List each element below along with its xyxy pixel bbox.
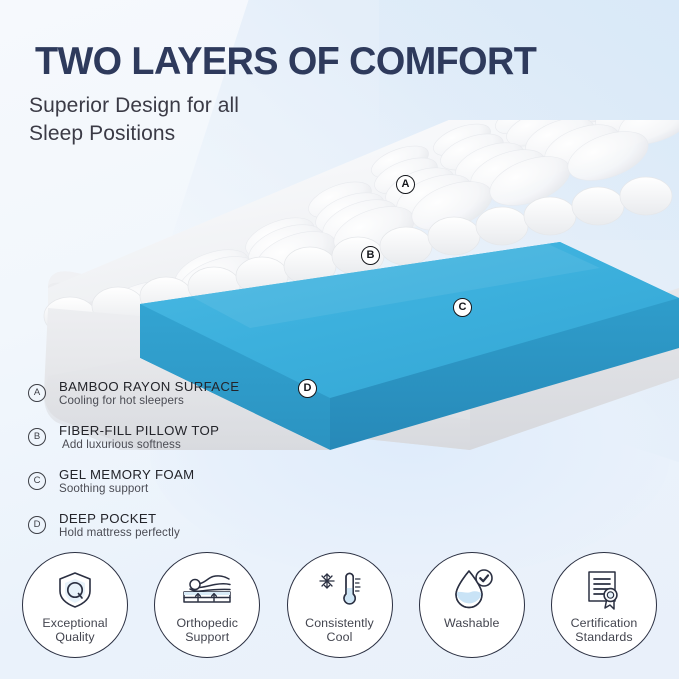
water-droplet-check-icon xyxy=(448,567,496,613)
legend-item-fiber-fill-pillow-top: B FIBER-FILL PILLOW TOP Add luxurious so… xyxy=(28,423,278,467)
legend-title-d: DEEP POCKET xyxy=(59,511,156,526)
shield-q-icon xyxy=(53,567,97,613)
badge-exceptional-quality: Exceptional Quality xyxy=(22,552,128,658)
badge-label-line1: Orthopedic xyxy=(176,616,238,630)
legend-sub-d: Hold mattress perfectly xyxy=(59,526,180,539)
infographic-canvas: TWO LAYERS OF COMFORT Superior Design fo… xyxy=(0,0,679,679)
badge-orthopedic-support: Orthopedic Support xyxy=(154,552,260,658)
badge-label-line1: Exceptional xyxy=(42,616,107,630)
illustration-marker-b: B xyxy=(361,246,380,265)
legend-item-gel-memory-foam: C GEL MEMORY FOAM Soothing support xyxy=(28,467,278,511)
legend-sub-a: Cooling for hot sleepers xyxy=(59,394,184,407)
badge-certification-standards: Certification Standards xyxy=(551,552,657,658)
badge-label-line2: Cool xyxy=(305,630,374,644)
badge-label-exceptional-quality: Exceptional Quality xyxy=(42,616,107,644)
badge-label-line2: Standards xyxy=(571,630,638,644)
legend-badge-d: D xyxy=(28,516,46,534)
badge-label-line2: Support xyxy=(176,630,238,644)
certificate-seal-icon xyxy=(581,567,627,613)
illustration-marker-d: D xyxy=(298,379,317,398)
thermometer-snowflake-icon xyxy=(315,567,365,613)
badge-washable: Washable xyxy=(419,552,525,658)
subtitle-line-1: Superior Design for all xyxy=(29,92,239,120)
badge-label-certification-standards: Certification Standards xyxy=(571,616,638,644)
legend-sub-c: Soothing support xyxy=(59,482,148,495)
legend-item-bamboo-rayon-surface: A BAMBOO RAYON SURFACE Cooling for hot s… xyxy=(28,379,278,423)
badge-label-consistently-cool: Consistently Cool xyxy=(305,616,374,644)
legend-badge-b: B xyxy=(28,428,46,446)
feature-badge-row: Exceptional Quality xyxy=(0,552,679,662)
legend-item-deep-pocket: D DEEP POCKET Hold mattress perfectly xyxy=(28,511,278,555)
person-on-bed-icon xyxy=(179,567,235,613)
feature-legend: A BAMBOO RAYON SURFACE Cooling for hot s… xyxy=(28,379,278,555)
badge-label-orthopedic-support: Orthopedic Support xyxy=(176,616,238,644)
legend-badge-c: C xyxy=(28,472,46,490)
illustration-marker-c: C xyxy=(453,298,472,317)
badge-consistently-cool: Consistently Cool xyxy=(287,552,393,658)
legend-title-b: FIBER-FILL PILLOW TOP xyxy=(59,423,219,438)
legend-title-a: BAMBOO RAYON SURFACE xyxy=(59,379,239,394)
badge-label-line2: Quality xyxy=(42,630,107,644)
badge-label-line1: Consistently xyxy=(305,616,374,630)
badge-label-line1: Certification xyxy=(571,616,638,630)
page-title: TWO LAYERS OF COMFORT xyxy=(35,40,536,84)
legend-title-c: GEL MEMORY FOAM xyxy=(59,467,194,482)
badge-label-washable: Washable xyxy=(444,616,499,630)
badge-label-line1: Washable xyxy=(444,616,499,630)
legend-badge-a: A xyxy=(28,384,46,402)
legend-sub-b: Add luxurious softness xyxy=(62,438,181,451)
illustration-marker-a: A xyxy=(396,175,415,194)
